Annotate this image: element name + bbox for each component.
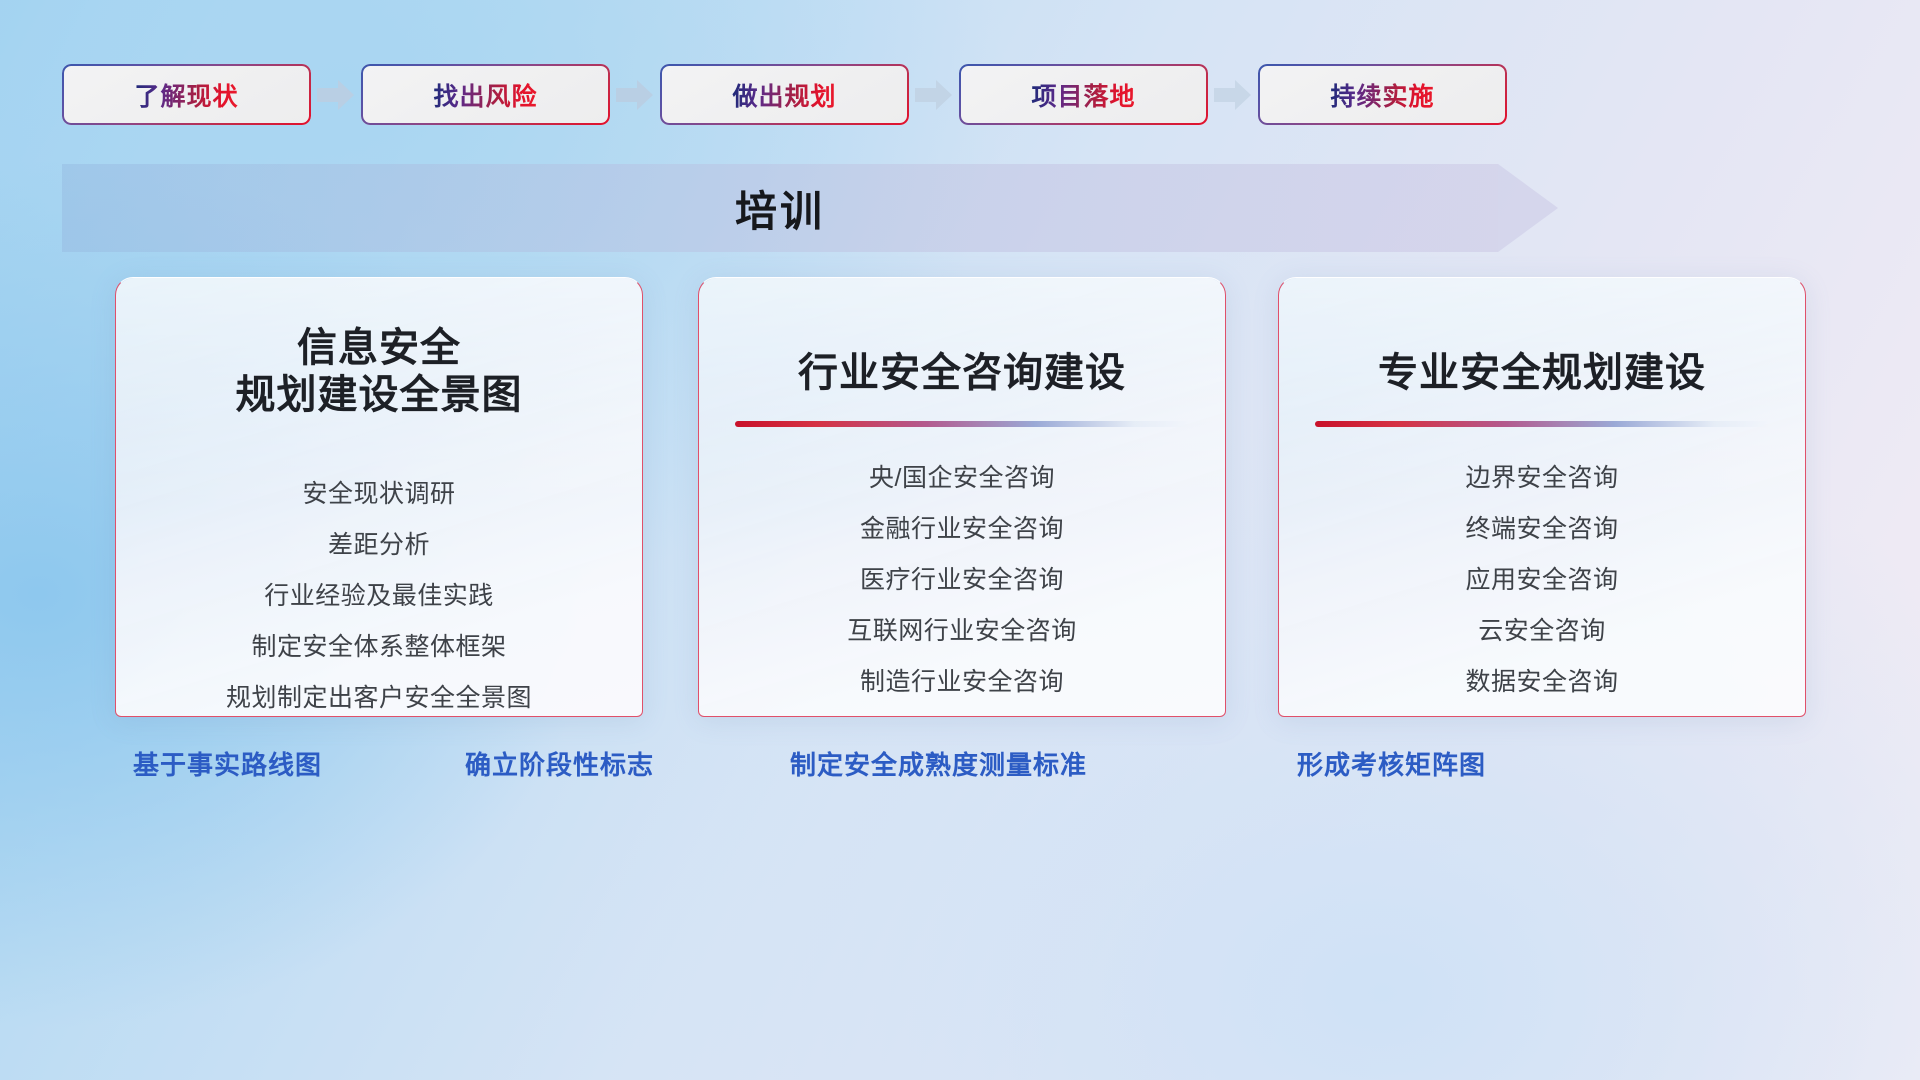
list-item: 安全现状调研 bbox=[116, 469, 642, 520]
step-box-3[interactable]: 做出规划 bbox=[660, 64, 909, 125]
step-box-2[interactable]: 找出风险 bbox=[361, 64, 610, 125]
step-label-1: 了解现状 bbox=[134, 77, 238, 113]
list-item: 医疗行业安全咨询 bbox=[699, 555, 1225, 606]
card-title: 行业安全咨询建设 bbox=[798, 350, 1126, 397]
footer-label-milestone: 确立阶段性标志 bbox=[465, 745, 654, 782]
card-item-list: 安全现状调研 差距分析 行业经验及最佳实践 制定安全体系整体框架 规划制定出客户… bbox=[116, 469, 642, 717]
list-item: 差距分析 bbox=[116, 520, 642, 571]
list-item: 央/国企安全咨询 bbox=[699, 453, 1225, 504]
list-item: 金融行业安全咨询 bbox=[699, 504, 1225, 555]
list-item: 互联网行业安全咨询 bbox=[699, 606, 1225, 657]
step-label-4: 项目落地 bbox=[1031, 77, 1135, 113]
list-item: 应用安全咨询 bbox=[1279, 555, 1805, 606]
list-item: 终端安全咨询 bbox=[1279, 504, 1805, 555]
list-item: 云安全咨询 bbox=[1279, 606, 1805, 657]
list-item: 制造行业安全咨询 bbox=[699, 657, 1225, 708]
list-item: 制定安全体系整体框架 bbox=[116, 622, 642, 673]
card-title: 专业安全规划建设 bbox=[1378, 350, 1706, 397]
right-arrow-icon bbox=[915, 78, 953, 112]
step-box-1[interactable]: 了解现状 bbox=[62, 64, 311, 125]
step-label-2: 找出风险 bbox=[433, 77, 537, 113]
training-banner-arrow-tip bbox=[1498, 164, 1558, 252]
card-item-list: 边界安全咨询 终端安全咨询 应用安全咨询 云安全咨询 数据安全咨询 bbox=[1279, 453, 1805, 708]
right-arrow-icon bbox=[616, 78, 654, 112]
list-item: 规划制定出客户安全全景图 bbox=[116, 673, 642, 717]
card-industry-security-consulting[interactable]: 行业安全咨询建设 央/国企安全咨询 金融行业安全咨询 医疗行业安全咨询 互联网行… bbox=[698, 277, 1226, 717]
step-box-4[interactable]: 项目落地 bbox=[959, 64, 1208, 125]
footer-label-roadmap: 基于事实路线图 bbox=[133, 745, 322, 782]
list-item: 数据安全咨询 bbox=[1279, 657, 1805, 708]
step-label-5: 持续实施 bbox=[1330, 77, 1434, 113]
footer-label-row: 基于事实路线图 确立阶段性标志 制定安全成熟度测量标准 形成考核矩阵图 bbox=[0, 745, 1920, 793]
card-divider bbox=[735, 421, 1189, 427]
card-divider bbox=[1315, 421, 1769, 427]
footer-label-maturity-standard: 制定安全成熟度测量标准 bbox=[790, 745, 1087, 782]
list-item: 行业经验及最佳实践 bbox=[116, 571, 642, 622]
footer-label-assessment-matrix: 形成考核矩阵图 bbox=[1297, 745, 1486, 782]
card-row: 信息安全 规划建设全景图 安全现状调研 差距分析 行业经验及最佳实践 制定安全体… bbox=[0, 277, 1920, 717]
card-professional-security-planning[interactable]: 专业安全规划建设 边界安全咨询 终端安全咨询 应用安全咨询 云安全咨询 数据安全… bbox=[1278, 277, 1806, 717]
card-information-security-blueprint[interactable]: 信息安全 规划建设全景图 安全现状调研 差距分析 行业经验及最佳实践 制定安全体… bbox=[115, 277, 643, 717]
step-box-5[interactable]: 持续实施 bbox=[1258, 64, 1507, 125]
right-arrow-icon bbox=[1214, 78, 1252, 112]
step-label-3: 做出规划 bbox=[732, 77, 836, 113]
process-step-row: 了解现状 找出风险 做出规划 项目落地 持续实施 bbox=[62, 64, 1858, 125]
training-banner-title: 培训 bbox=[735, 178, 825, 239]
list-item: 边界安全咨询 bbox=[1279, 453, 1805, 504]
card-item-list: 央/国企安全咨询 金融行业安全咨询 医疗行业安全咨询 互联网行业安全咨询 制造行… bbox=[699, 453, 1225, 708]
training-banner: 培训 bbox=[62, 164, 1498, 252]
card-title: 信息安全 规划建设全景图 bbox=[236, 325, 523, 419]
right-arrow-icon bbox=[317, 78, 355, 112]
